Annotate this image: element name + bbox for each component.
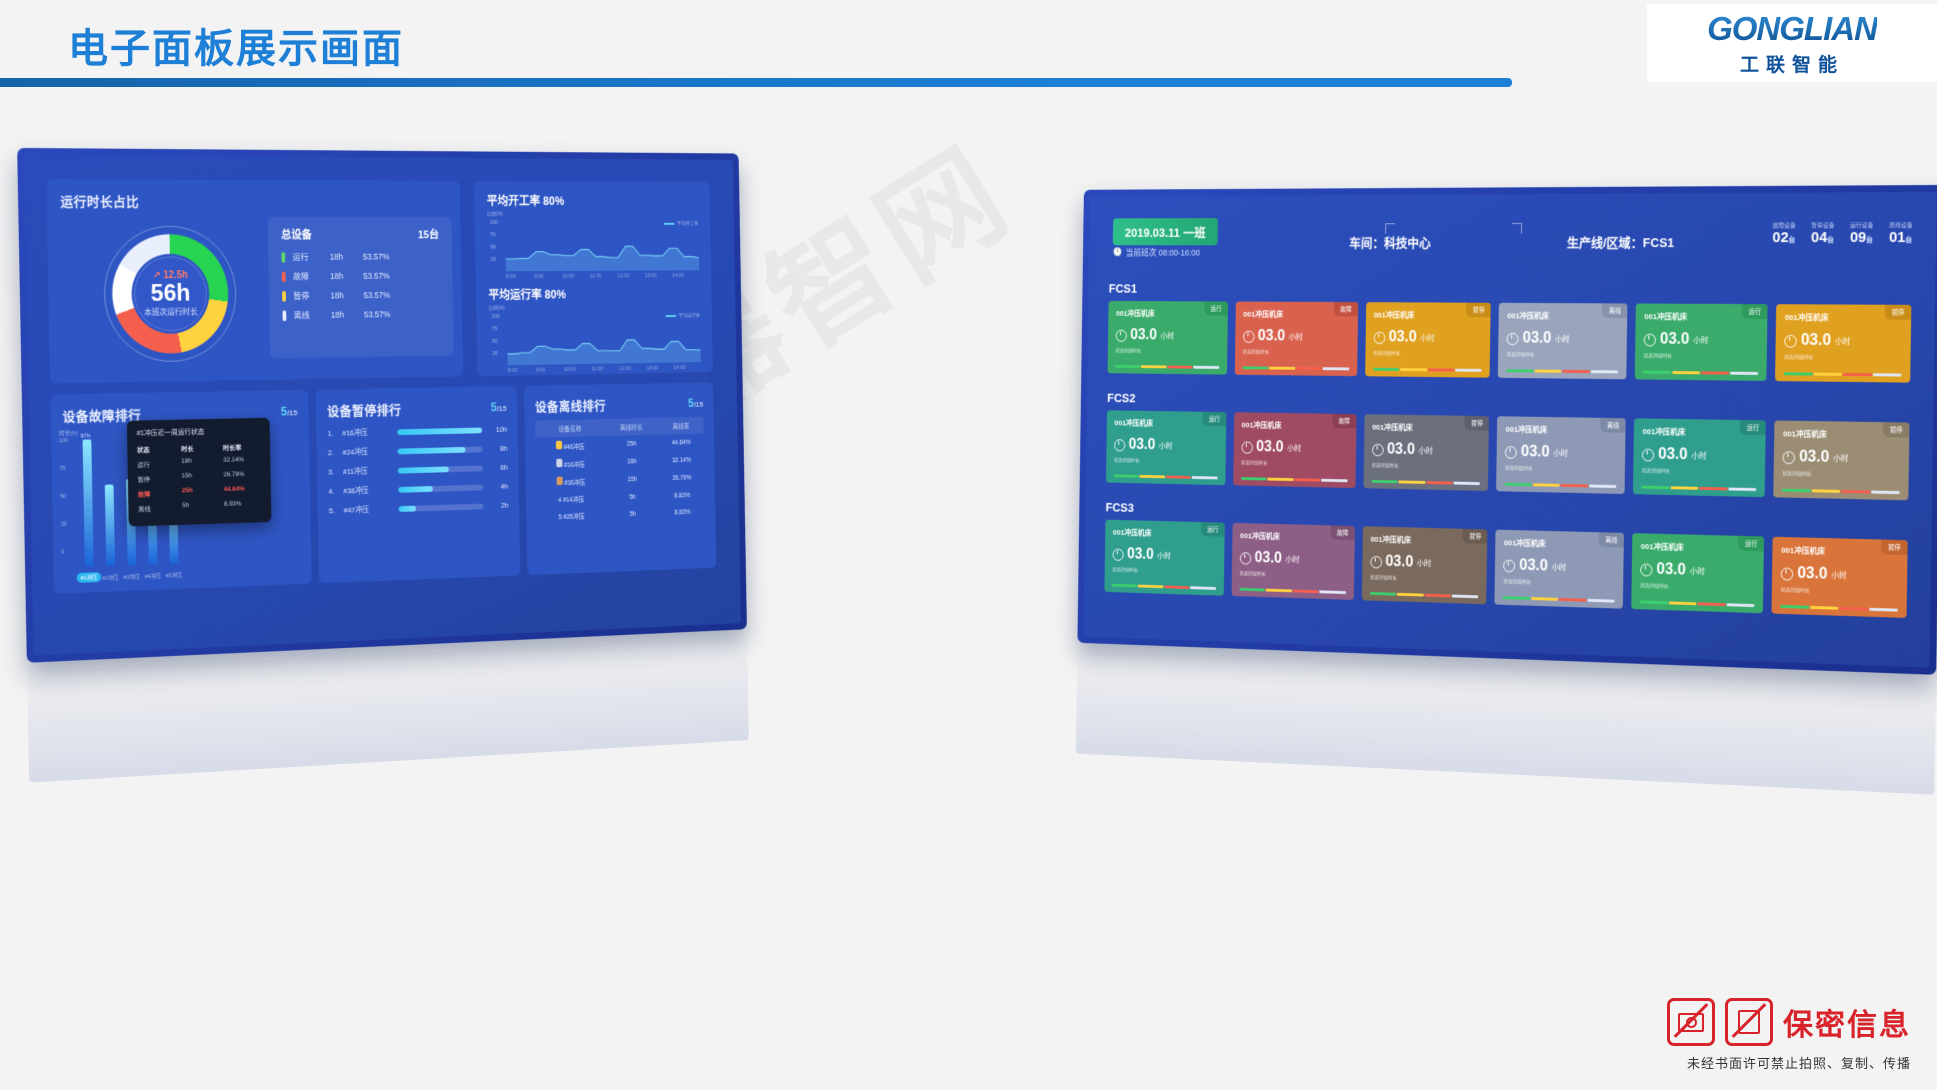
bar-fault <box>1164 585 1189 589</box>
hours-value: 03.0 <box>1660 331 1690 349</box>
clock-icon <box>1644 333 1656 346</box>
bar-pause <box>1397 593 1424 597</box>
duration-value: 4h <box>490 482 508 491</box>
bar-fault <box>1561 484 1588 487</box>
bar-offline <box>1730 372 1758 375</box>
bar-fault <box>1563 370 1590 373</box>
bar-fault <box>1843 373 1872 376</box>
machine-sub-label: 状态持续时长 <box>1112 566 1216 576</box>
device-name: #16冲压 <box>342 427 390 439</box>
bar-offline <box>1319 590 1345 594</box>
tooltip-row: 暂停15h26.79% <box>137 471 261 484</box>
clock-icon <box>1372 443 1384 456</box>
machine-tile[interactable]: 离线001冲压机床03.0小时状态持续时长 <box>1498 303 1627 379</box>
offline-rate: 26.79% <box>659 469 705 488</box>
bar-fault <box>1426 481 1453 484</box>
machine-tile[interactable]: 运行001冲压机床03.0小时状态持续时长 <box>1633 418 1766 497</box>
hours-value: 03.0 <box>1521 444 1550 462</box>
bar-offline <box>1455 369 1482 372</box>
confidential-footer: 保密信息 未经书面许可禁止拍照、复制、传播 <box>1667 998 1911 1072</box>
summary-value: 15台 <box>418 227 439 242</box>
summary-legend-rows: 运行18h53.57%故障18h53.57%暂停18h53.57%离线18h53… <box>281 251 440 322</box>
machine-status-flag: 故障 <box>1334 302 1358 316</box>
machine-sub-label: 状态持续时长 <box>1370 574 1479 584</box>
fcs-group: FCS3运行001冲压机床03.0小时状态持续时长故障001冲压机床03.0小时… <box>1104 500 1908 618</box>
offline-duration: 5h <box>606 505 660 524</box>
bar-offline <box>1728 487 1756 491</box>
legend-color-swatch <box>282 271 286 282</box>
x-tick: 9:00 <box>534 274 544 280</box>
device-name: #24冲压 <box>343 446 391 458</box>
confidential-row: 保密信息 <box>1667 998 1911 1046</box>
bar-fault <box>1697 602 1725 606</box>
clock-icon <box>1504 559 1516 572</box>
machine-hours: 03.0小时 <box>1507 330 1619 348</box>
machine-status-flag: 暂停 <box>1466 303 1491 318</box>
machine-sub-label: 状态持续时长 <box>1115 347 1219 355</box>
machine-status-bars <box>1503 596 1615 602</box>
bar-fault <box>1294 478 1320 481</box>
logo-chinese-name: 工联智能 <box>1740 50 1844 77</box>
machine-tile[interactable]: 暂停001冲压机床03.0小时状态持续时长 <box>1363 414 1489 491</box>
machine-sub-label: 状态持续时长 <box>1507 351 1619 359</box>
legend-hours: 18h <box>330 252 363 262</box>
hours-value: 03.0 <box>1387 441 1415 459</box>
duration-value: 6h <box>490 463 508 472</box>
hours-unit: 小时 <box>1287 443 1301 454</box>
fault-bar-category[interactable]: #1冲压 <box>77 572 102 583</box>
left-led-screen: 运行时长占比 ↗ 12.5h 56h 本班次运行时长 总设备 15台 运行 <box>17 148 747 663</box>
device-name: #38冲压 <box>343 484 391 496</box>
chart0-axis-unit: 比例(%) <box>487 211 503 218</box>
bar-offline <box>1453 482 1480 485</box>
bar-run <box>1780 605 1808 609</box>
machine-status-bars <box>1780 605 1897 612</box>
bar-fault <box>1166 475 1191 478</box>
machine-status-flag: 暂停 <box>1881 540 1908 556</box>
legend-name: 故障 <box>293 270 330 282</box>
pause-rank-row[interactable]: 3.#11冲压6h <box>328 462 508 477</box>
hours-value: 03.0 <box>1129 437 1156 454</box>
legend-pct: 53.57% <box>364 290 391 300</box>
bar-fault <box>1699 487 1727 491</box>
fault-y-tick: 50 <box>60 494 66 500</box>
offline-rate: 8.83% <box>660 503 706 521</box>
machine-tile[interactable]: 暂停001冲压机床03.0小时状态持续时长 <box>1365 302 1491 378</box>
y-tick: 100 <box>490 220 498 226</box>
fault-bar-category[interactable]: #5冲压 <box>166 571 183 579</box>
rank-index: 1. <box>327 429 342 438</box>
tooltip-rate: 44.64% <box>224 486 245 496</box>
bar-offline <box>1871 491 1900 495</box>
bar-offline <box>1190 586 1216 590</box>
machine-status-bars <box>1241 477 1347 482</box>
tooltip-duration: 15h <box>182 472 224 483</box>
right-screen-bezel: 2019.03.11 一班 🕐 当前班次 08:00-16:00 车间：科技中心… <box>1077 185 1937 675</box>
x-tick: 12:00 <box>619 366 631 372</box>
bar-pause <box>1669 601 1697 605</box>
duration-value: 2h <box>491 501 509 510</box>
machine-hours: 03.0小时 <box>1372 441 1481 460</box>
bar-run <box>1239 588 1265 592</box>
machine-tile[interactable]: 离线001冲压机床03.0小时状态持续时长 <box>1495 530 1624 609</box>
runtime-donut-chart: ↗ 12.5h 56h 本班次运行时长 <box>108 231 233 358</box>
machine-tile-row: 运行001冲压机床03.0小时状态持续时长故障001冲压机床03.0小时状态持续… <box>1106 410 1910 500</box>
fault-tooltip: #1冲压近一周运行状态 状态 时长 时长率 运行18h32.14%暂停15h26… <box>127 418 272 527</box>
pause-rank-row[interactable]: 4.#38冲压4h <box>328 481 508 497</box>
bar-run <box>1642 486 1670 490</box>
machine-tile[interactable]: 故障001冲压机床03.0小时状态持续时长 <box>1233 412 1356 488</box>
x-tick: 8:00 <box>506 274 516 280</box>
machine-status-flag: 暂停 <box>1465 416 1490 431</box>
bar-run <box>1643 371 1671 374</box>
machine-status-flag: 运行 <box>1738 536 1764 551</box>
chart-title-1: 平均运行率 80% <box>488 285 699 303</box>
medal-icon <box>556 477 562 486</box>
fcs-groups: FCS1运行001冲压机床03.0小时状态持续时长故障001冲压机床03.0小时… <box>1090 192 1937 196</box>
offline-device-name: #36冲压 <box>536 472 605 492</box>
clock-icon <box>1243 330 1255 342</box>
legend-name: 暂停 <box>293 290 330 302</box>
bar-fault <box>1293 589 1319 593</box>
hours-unit: 小时 <box>1835 336 1851 347</box>
bar-offline <box>1589 485 1616 488</box>
machine-tile[interactable]: 暂停001冲压机床03.0小时状态持续时长 <box>1772 537 1908 618</box>
clock-icon <box>1113 548 1124 560</box>
progress-fill <box>398 446 466 453</box>
hours-unit: 小时 <box>1157 550 1171 561</box>
machine-sub-label: 状态持续时长 <box>1644 352 1759 360</box>
title-underline <box>0 78 1512 87</box>
pause-rank-row[interactable]: 1.#16冲压10h <box>327 424 507 439</box>
machine-tile[interactable]: 运行001冲压机床03.0小时状态持续时长 <box>1632 533 1765 613</box>
legend-color-swatch <box>281 252 285 263</box>
bar-pause <box>1269 367 1295 370</box>
offline-duration: 15h <box>605 470 659 489</box>
fault-rank-panel: 设备故障排行 5/15 时长(h) 1007550250 97h#1冲压#2冲压… <box>50 390 311 594</box>
bar-run <box>1505 483 1532 486</box>
clock-icon <box>1114 439 1125 451</box>
tooltip-duration: 5h <box>182 501 224 512</box>
hours-value: 03.0 <box>1797 565 1827 584</box>
machine-status-flag: 故障 <box>1330 525 1354 540</box>
counter-value: 09台 <box>1850 229 1874 246</box>
donut-caption: 本班次运行时长 <box>144 306 198 317</box>
fault-bar[interactable] <box>83 439 94 566</box>
machine-hours: 03.0小时 <box>1241 439 1348 458</box>
hours-unit: 小时 <box>1831 569 1847 580</box>
bar-offline <box>1452 595 1479 599</box>
company-logo: GONGLIAN 工联智能 <box>1647 4 1937 82</box>
tooltip-row: 运行18h32.14% <box>137 456 261 469</box>
bar-run <box>1370 592 1396 596</box>
bar-run <box>1241 477 1267 480</box>
tooltip-duration: 25h <box>182 486 224 497</box>
fault-y-tick: 25 <box>61 522 67 528</box>
legend-hours: 18h <box>330 271 363 281</box>
machine-status-flag: 离线 <box>1602 303 1627 318</box>
pause-rank-row[interactable]: 2.#24冲压8h <box>328 443 508 458</box>
progress-fill <box>397 427 482 435</box>
bar-pause <box>1138 585 1163 589</box>
fault-axis-unit: 时长(h) <box>59 428 78 437</box>
bar-pause <box>1400 368 1427 371</box>
tooltip-row: 离线5h8.93% <box>138 500 262 514</box>
clock-icon <box>1640 563 1652 576</box>
bar-pause <box>1670 486 1698 490</box>
bar-pause <box>1534 370 1561 373</box>
machine-status-flag: 离线 <box>1599 532 1624 547</box>
rate-charts-panel: 平均开工率 80% 比例(%) 平均开工率 1007550258:009:001… <box>474 181 713 376</box>
machine-status-bars <box>1112 584 1216 590</box>
progress-track <box>399 503 484 511</box>
machine-status-flag: 运行 <box>1204 301 1228 315</box>
y-tick: 75 <box>490 232 496 238</box>
machine-sub-label: 状态持续时长 <box>1503 578 1615 588</box>
machine-tile[interactable]: 运行001冲压机床03.0小时状态持续时长 <box>1106 410 1226 485</box>
bar-pause <box>1268 478 1294 481</box>
hours-unit: 小时 <box>1691 450 1706 461</box>
pause-rank-row[interactable]: 5.#47冲压2h <box>329 500 509 516</box>
machine-sub-label: 状态持续时长 <box>1243 349 1349 357</box>
confidential-label: 保密信息 <box>1783 1000 1911 1044</box>
x-tick: 13:00 <box>645 273 657 279</box>
offline-rank-header: 设备离线排行 5/15 <box>535 394 703 415</box>
machine-status-flag: 故障 <box>1332 414 1356 429</box>
fault-y-tick: 75 <box>60 466 66 472</box>
fault-bar-category[interactable]: #3冲压 <box>123 573 140 582</box>
machine-tile-row: 运行001冲压机床03.0小时状态持续时长故障001冲压机床03.0小时状态持续… <box>1108 301 1912 383</box>
hours-value: 03.0 <box>1385 553 1413 571</box>
bar-offline <box>1321 479 1347 482</box>
machine-hours: 03.0小时 <box>1243 328 1350 346</box>
bar-run <box>1114 474 1139 477</box>
legend-color-swatch <box>282 290 286 301</box>
bar-run <box>1782 489 1810 493</box>
machine-sub-label: 状态持续时长 <box>1371 462 1480 471</box>
progress-track <box>398 446 483 454</box>
hours-unit: 小时 <box>1289 331 1303 341</box>
clock-icon <box>1373 331 1385 343</box>
bar-run <box>1243 366 1269 369</box>
summary-label: 总设备 <box>281 227 312 243</box>
machine-sub-label: 状态持续时长 <box>1784 354 1902 362</box>
counter-label: 离线设备 <box>1889 220 1913 229</box>
no-copy-icon <box>1725 998 1773 1046</box>
machine-status-flag: 运行 <box>1742 304 1768 319</box>
runtime-panel-title: 运行时长占比 <box>60 191 139 210</box>
pause-rank-panel: 设备暂停排行 5/15 1.#16冲压10h2.#24冲压8h3.#11冲压6h… <box>316 386 521 583</box>
runtime-ratio-panel: 运行时长占比 ↗ 12.5h 56h 本班次运行时长 总设备 15台 运行 <box>46 179 463 383</box>
donut-center: ↗ 12.5h 56h 本班次运行时长 <box>133 256 207 331</box>
machine-sub-label: 状态持续时长 <box>1640 582 1755 592</box>
hours-unit: 小时 <box>1555 334 1570 345</box>
bar-offline <box>1869 608 1898 612</box>
tooltip-rate: 8.93% <box>224 500 242 510</box>
pause-rank-rows: 1.#16冲压10h2.#24冲压8h3.#11冲压6h4.#38冲压4h5.#… <box>327 424 508 516</box>
machine-tile[interactable]: 运行001冲压机床03.0小时状态持续时长 <box>1104 520 1224 596</box>
machine-tile[interactable]: 离线001冲压机床03.0小时状态持续时长 <box>1497 416 1626 494</box>
bar-fault <box>1701 371 1729 374</box>
y-tick: 25 <box>491 257 497 263</box>
offline-rank-panel: 设备离线排行 5/15 设备名称离线时长离线率 #46冲压25h44.64% #… <box>524 382 716 575</box>
avg-startup-rate-chart: 比例(%) 平均开工率 1007550258:009:0010:0011:001… <box>487 212 699 271</box>
bar-pause <box>1141 365 1166 368</box>
machine-status-bars <box>1507 369 1619 373</box>
hours-unit: 小时 <box>1418 445 1433 456</box>
donut-value: 56h <box>151 281 191 306</box>
bar-run <box>1507 369 1534 372</box>
clock-icon <box>1241 441 1253 453</box>
status-counters: 故障设备02台暂停设备04台运行设备09台离线设备01台 <box>1772 220 1912 246</box>
bar-run <box>1373 368 1399 371</box>
legend-color-swatch <box>282 310 286 321</box>
left-screen-bezel: 运行时长占比 ↗ 12.5h 56h 本班次运行时长 总设备 15台 运行 <box>17 148 747 663</box>
legend-pct: 53.57% <box>363 271 390 281</box>
x-tick: 14:00 <box>674 365 686 371</box>
offline-device-name: #46冲压 <box>536 436 605 456</box>
machine-tile[interactable]: 故障001冲压机床03.0小时状态持续时长 <box>1235 302 1358 377</box>
bar-offline <box>1872 373 1901 376</box>
bar-pause <box>1812 489 1841 493</box>
y-tick: 50 <box>490 245 496 251</box>
no-photo-icon <box>1667 998 1715 1046</box>
bar-fault <box>1167 366 1192 369</box>
device-summary-card: 总设备 15台 运行18h53.57%故障18h53.57%暂停18h53.57… <box>268 217 454 358</box>
progress-track <box>398 465 483 473</box>
tooltip-row: 故障25h44.64% <box>138 485 262 498</box>
offline-duration: 18h <box>605 452 659 471</box>
fault-bar-label: 97h <box>80 433 90 439</box>
offline-rate: 8.83% <box>659 486 705 504</box>
hours-value: 03.0 <box>1799 449 1829 467</box>
bar-fault <box>1841 490 1870 494</box>
bar-run <box>1784 372 1812 375</box>
machine-tile[interactable]: 运行001冲压机床03.0小时状态持续时长 <box>1108 301 1228 375</box>
bar-pause <box>1266 589 1292 593</box>
bar-run <box>1640 601 1668 605</box>
fault-bar-category[interactable]: #4冲压 <box>145 572 162 581</box>
x-tick: 9:00 <box>536 367 546 373</box>
hours-value: 03.0 <box>1255 550 1283 568</box>
bar-offline <box>1192 476 1218 479</box>
hours-value: 03.0 <box>1801 332 1831 350</box>
counter-label: 运行设备 <box>1850 220 1874 229</box>
hours-unit: 小时 <box>1551 561 1566 572</box>
clock-icon <box>1505 446 1517 459</box>
hours-unit: 小时 <box>1159 440 1173 451</box>
machine-hours: 03.0小时 <box>1505 443 1617 462</box>
hours-value: 03.0 <box>1389 329 1417 346</box>
machine-hours: 03.0小时 <box>1373 329 1482 347</box>
page-title: 电子面板展示画面 <box>68 16 404 74</box>
bar-offline <box>1591 370 1618 373</box>
machine-tile[interactable]: 运行001冲压机床03.0小时状态持续时长 <box>1635 303 1768 380</box>
hours-value: 03.0 <box>1658 446 1688 464</box>
rank-index: 4. <box>328 487 343 496</box>
legend-pct: 53.57% <box>363 252 390 262</box>
status-counter: 暂停设备04台 <box>1811 220 1835 246</box>
machine-hours: 03.0小时 <box>1116 327 1220 345</box>
hours-value: 03.0 <box>1256 439 1284 456</box>
summary-legend-row: 故障18h53.57% <box>282 270 440 283</box>
y-tick: 50 <box>492 339 498 345</box>
duration-value: 8h <box>489 444 507 453</box>
right-led-screen: 2019.03.11 一班 🕐 当前班次 08:00-16:00 车间：科技中心… <box>1077 185 1937 675</box>
machine-status-flag: 运行 <box>1203 412 1227 426</box>
legend-hours: 18h <box>330 290 363 300</box>
machine-status-bars <box>1782 489 1899 494</box>
hours-unit: 小时 <box>1833 453 1849 464</box>
machine-hours: 03.0小时 <box>1370 553 1479 573</box>
bar-pause <box>1533 483 1560 486</box>
offline-duration: 25h <box>604 435 658 454</box>
avg-running-rate-chart: 比例(%) 平均运行率 1007550258:009:0010:0011:001… <box>489 305 701 366</box>
offline-column-header: 离线时长 <box>604 418 658 436</box>
machine-tile[interactable]: 暂停001冲压机床03.0小时状态持续时长 <box>1773 420 1909 500</box>
machine-status-flag: 暂停 <box>1463 529 1488 544</box>
machine-status-bars <box>1115 365 1219 369</box>
progress-track <box>398 484 483 492</box>
line-area-label: 生产线/区域：FCS1 <box>1567 232 1675 251</box>
bar-pause <box>1672 371 1700 374</box>
bar-run <box>1112 584 1137 588</box>
fault-rank-count: 5/15 <box>281 404 298 418</box>
y-tick: 75 <box>492 326 498 332</box>
bar-pause <box>1531 597 1558 601</box>
pause-rank-header: 设备暂停排行 5/15 <box>327 398 507 420</box>
clock-icon <box>1781 567 1794 580</box>
corner-mark-tr <box>1512 223 1522 234</box>
machine-tile[interactable]: 暂停001冲压机床03.0小时状态持续时长 <box>1362 526 1488 604</box>
status-counter: 运行设备09台 <box>1850 220 1874 246</box>
offline-rate: 32.14% <box>659 451 705 470</box>
bar-pause <box>1140 475 1165 478</box>
offline-device-name: 5 #25冲压 <box>537 506 606 525</box>
machine-sub-label: 状态持续时长 <box>1782 470 1900 479</box>
date-shift-badge: 2019.03.11 一班 <box>1113 218 1218 245</box>
rank-index: 5. <box>329 506 344 515</box>
machine-sub-label: 状态持续时长 <box>1642 467 1757 476</box>
tooltip-title: #1冲压近一周运行状态 <box>137 426 261 439</box>
bar-run <box>1371 480 1397 483</box>
machine-hours: 03.0小时 <box>1781 565 1899 586</box>
machine-sub-label: 状态持续时长 <box>1240 570 1346 580</box>
machine-hours: 03.0小时 <box>1504 557 1616 578</box>
hours-value: 03.0 <box>1656 561 1686 579</box>
hours-unit: 小时 <box>1417 558 1432 569</box>
tooltip-state: 运行 <box>137 458 181 469</box>
hours-unit: 小时 <box>1285 554 1299 565</box>
machine-tile[interactable]: 故障001冲压机床03.0小时状态持续时长 <box>1231 523 1354 600</box>
right-screen-surface: 2019.03.11 一班 🕐 当前班次 08:00-16:00 车间：科技中心… <box>1083 192 1936 668</box>
machine-status-flag: 离线 <box>1601 418 1626 433</box>
clock-icon <box>1116 329 1127 341</box>
x-tick: 12:00 <box>617 273 629 279</box>
offline-rank-count: 5/15 <box>688 396 703 409</box>
fault-bar[interactable] <box>105 485 115 566</box>
hours-unit: 小时 <box>1553 448 1568 459</box>
machine-tile[interactable]: 暂停001冲压机床03.0小时状态持续时长 <box>1775 304 1911 382</box>
machine-status-bars <box>1640 601 1754 608</box>
logo-wordmark: GONGLIAN <box>1707 10 1877 48</box>
machine-status-flag: 运行 <box>1740 420 1766 435</box>
legend-name: 运行 <box>293 251 330 263</box>
bar-fault <box>1296 367 1322 370</box>
fault-bar-category[interactable]: #2冲压 <box>102 573 119 582</box>
left-screen-surface: 运行时长占比 ↗ 12.5h 56h 本班次运行时长 总设备 15台 运行 <box>24 155 741 656</box>
medal-icon <box>556 441 562 450</box>
